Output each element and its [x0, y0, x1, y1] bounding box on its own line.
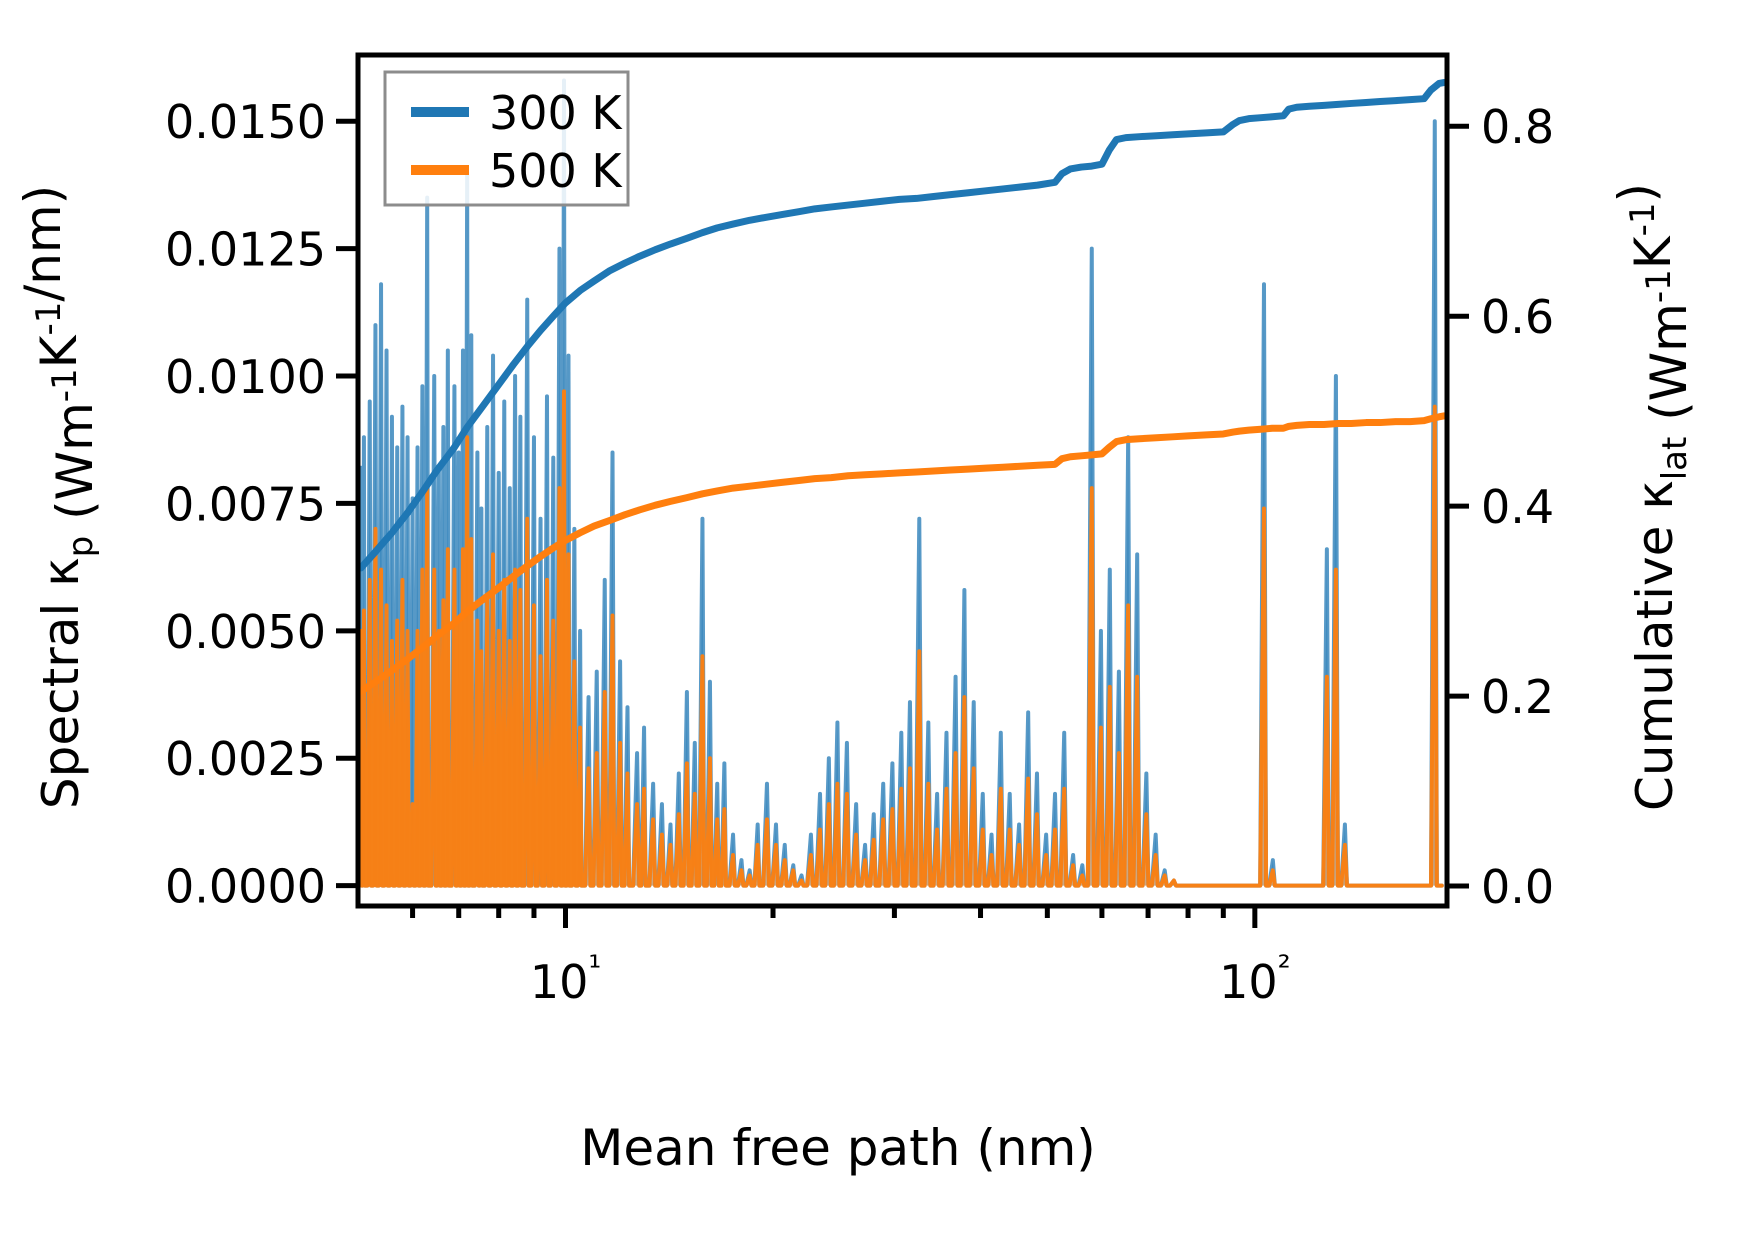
y-tick-label-left: 0.0100 [165, 350, 326, 404]
y-tick-label-right: 0.6 [1481, 290, 1554, 344]
spectral-kappa-chart: 0.00000.00250.00500.00750.01000.01250.01… [0, 0, 1753, 1254]
legend-label-500k: 500 K [489, 144, 623, 198]
y-tick-label-right: 0.0 [1481, 860, 1554, 914]
y-tick-label-left: 0.0075 [165, 477, 326, 531]
y-tick-label-left: 0.0025 [165, 732, 326, 786]
y-tick-label-left: 0.0050 [165, 605, 326, 659]
y-tick-label-left: 0.0125 [165, 223, 326, 277]
y-tick-label-right: 0.2 [1481, 670, 1554, 724]
y-tick-label-left: 0.0000 [165, 860, 326, 914]
x-axis-label: Mean free path (nm) [580, 1119, 1096, 1177]
y-tick-label-right: 0.8 [1481, 100, 1554, 154]
figure-canvas: 0.00000.00250.00500.00750.01000.01250.01… [0, 0, 1753, 1254]
legend-label-300k: 300 K [489, 86, 623, 140]
y-tick-label-left: 0.0150 [165, 95, 326, 149]
y-tick-label-right: 0.4 [1481, 480, 1554, 534]
chart-legend[interactable]: 300 K500 K [385, 72, 628, 205]
